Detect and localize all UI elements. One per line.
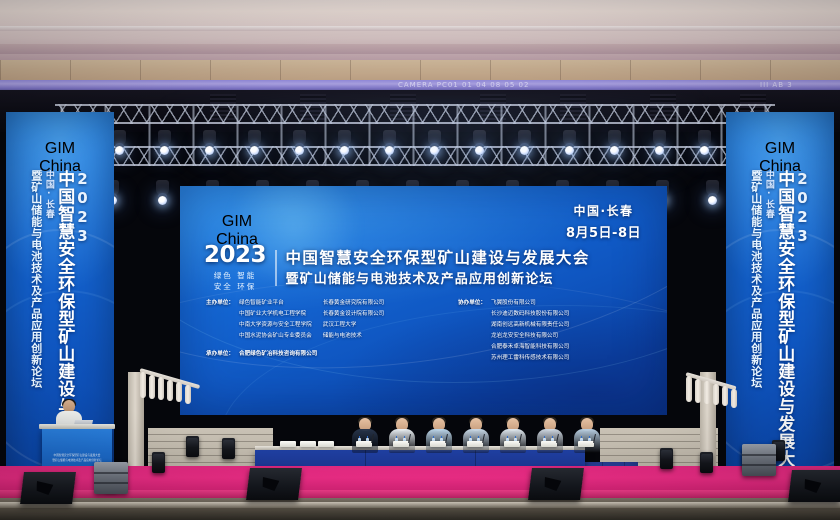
stage-light [158,196,167,205]
moving-head-fixture [706,180,719,195]
stage-light [430,146,439,155]
screen-slogan-line2: 安全 环保 [204,281,266,292]
stage-light [700,146,709,155]
stage-monitor-speaker [246,468,302,500]
side-banner-left-year: 2023 [74,170,89,228]
host-item2-2: 武汉工程大学 [323,320,385,331]
stage-light [520,146,529,155]
name-card [504,441,520,447]
screen-year-block: 2023 绿色 智能 安全 环保 [204,244,266,293]
sponsor-block-organizer: 承办单位： 合肥绿色矿冶科技咨询有限公司 [206,349,317,360]
screen-logo: GIM China [206,195,268,249]
ceiling-beam [0,44,840,54]
moving-head-fixture [608,130,621,145]
host-item-3: 中国水泥协会矿山专业委员会 [239,331,312,342]
moving-head-fixture [473,130,486,145]
name-card [430,441,446,447]
screen-year: 2023 [204,244,266,267]
moving-head-fixture [338,130,351,145]
cohost-item-5: 苏州理工雷科传感技术有限公司 [491,353,569,364]
screen-titles: 中国智慧安全环保型矿山建设与发展大会 暨矿山储能与电池技术及产品应用创新论坛 [286,248,590,288]
moving-head-fixture [293,130,306,145]
cohost-label: 协办单位： [458,298,486,363]
side-banner-right-logo: GIM China [755,122,805,176]
podium-logo [66,434,88,452]
side-banner-right-year: 2023 [794,170,809,228]
stage-light [708,196,717,205]
moving-head-fixture [156,180,169,195]
stage-front-edge [0,498,840,520]
host-label: 主办单位： [206,298,234,342]
screen-slogan: 绿色 智能 安全 环保 [204,270,266,293]
floor-moving-head [700,452,713,473]
host-item2-0: 长春黄金研究院有限公司 [323,298,385,309]
host-item-2: 中南大学资源与安全工程学院 [239,320,312,331]
screen-title-line1: 中国智慧安全环保型矿山建设与发展大会 [286,248,590,268]
side-banner-left-logo: GIM China [35,122,85,176]
name-card [356,441,372,447]
lighting-truss-upper [55,104,775,124]
equipment-flight-case [742,444,776,476]
cohost-item-3: 龙岩龙安安全科技有限公司 [491,331,569,342]
moving-head-fixture [383,130,396,145]
sponsor-block-cohost: 协办单位： 飞翼股份有限公司长沙迪迈数码科技股份有限公司湖南创远高新机械有限责任… [458,298,667,363]
cohost-column: 飞翼股份有限公司长沙迪迈数码科技股份有限公司湖南创远高新机械有限责任公司龙岩龙安… [491,298,569,363]
cohost-item-4: 合肥泰禾卓海智能科技有限公司 [491,342,569,353]
side-banner-left-subtitle: 暨矿山储能与电池技术及产品应用创新论坛 [30,170,41,496]
moving-head-fixture [653,130,666,145]
stage-light [160,146,169,155]
name-card [393,441,409,447]
floor-moving-head [222,438,235,459]
stage-monitor-speaker [788,470,840,502]
equipment-flight-case [94,462,128,494]
screen-city: 中国·长春 [566,202,641,219]
host-item2-1: 长春黄金设计院有限公司 [323,309,385,320]
moving-head-fixture [113,130,126,145]
moving-head-fixture [518,130,531,145]
floor-moving-head [152,452,165,473]
floor-moving-head [660,448,673,469]
name-card [300,441,316,447]
stage-light [655,146,664,155]
stage-light [205,146,214,155]
screen-date: 8月5日-8日 [566,222,641,241]
stage-light [565,146,574,155]
stage-light [475,146,484,155]
name-card [318,441,334,447]
stage-light [115,146,124,155]
led-band-text-center: CAMERA PC01 01 04 08 05 02 [398,81,529,89]
moving-head-fixture [158,130,171,145]
ceiling-cornice [0,60,840,82]
moving-head-fixture [698,130,711,145]
lighting-truss-lower [88,146,752,166]
moving-head-fixture [428,130,441,145]
moving-head-fixture [248,130,261,145]
organizer-value: 合肥绿色矿冶科技咨询有限公司 [239,349,317,360]
main-led-screen: GIM China 中国·长春 8月5日-8日 2023 绿色 智能 安全 环保… [180,186,667,415]
moving-head-fixture [563,130,576,145]
led-band-text-right: III AB 3 [760,81,793,89]
name-card [467,441,483,447]
stage-light [340,146,349,155]
name-card [541,441,557,447]
name-card [578,441,594,447]
host-item-0: 绿色智能矿业平台 [239,298,312,309]
host-item-1: 中国矿业大学机电工程学院 [239,309,312,320]
moving-head-fixture [203,130,216,145]
host-column-1: 绿色智能矿业平台中国矿业大学机电工程学院中南大学资源与安全工程学院中国水泥协会矿… [239,298,312,342]
cohost-item-0: 飞翼股份有限公司 [491,298,569,309]
screen-location-block: 中国·长春 8月5日-8日 [566,202,641,241]
stage-monitor-speaker [20,472,76,504]
stage-monitor-speaker [528,468,584,500]
stage-light [610,146,619,155]
screen-title-line2: 暨矿山储能与电池技术及产品应用创新论坛 [286,271,590,289]
title-divider [275,250,277,286]
screen-title-row: 2023 绿色 智能 安全 环保 中国智慧安全环保型矿山建设与发展大会 暨矿山储… [204,244,644,293]
name-card [280,441,296,447]
cohost-item-1: 长沙迪迈数码科技股份有限公司 [491,309,569,320]
cohost-item-2: 湖南创远高新机械有限责任公司 [491,320,569,331]
stage-light [250,146,259,155]
stage-light [385,146,394,155]
conference-stage-photo: CAMERA PC01 01 04 08 05 02 III AB 3 GIM … [0,0,840,520]
stage-light [295,146,304,155]
organizer-label: 承办单位： [206,349,234,360]
host-item2-3: 储能与电池技术 [323,331,385,342]
floor-moving-head [186,436,199,457]
screen-slogan-line1: 绿色 智能 [204,270,266,281]
host-column-2: 长春黄金研究院有限公司长春黄金设计院有限公司武汉工程大学储能与电池技术 [323,298,385,342]
